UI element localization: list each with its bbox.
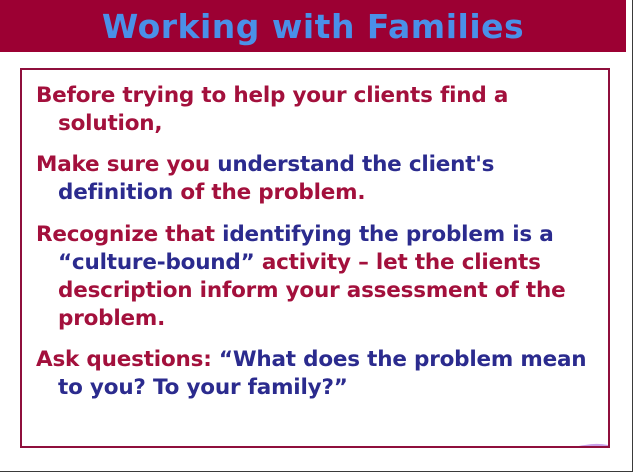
bullet-paragraph-para-2: Make sure you understand the client's de… [36, 151, 594, 207]
content-frame: Before trying to help your clients find … [20, 68, 610, 448]
bullet-paragraph-para-4: Ask questions: “What does the problem me… [36, 346, 594, 402]
text-segment-red: Ask questions: [36, 347, 219, 372]
bullet-paragraph-para-3: Recognize that identifying the problem i… [36, 221, 594, 334]
text-segment-red: Make sure you [36, 152, 217, 177]
title-banner: Working with Families [0, 0, 626, 52]
bullet-paragraph-para-1: Before trying to help your clients find … [36, 82, 594, 138]
text-segment-red: of the problem. [180, 180, 365, 205]
page-title: Working with Families [102, 10, 524, 43]
text-segment-red: Before trying to help your clients find … [36, 83, 508, 136]
text-segment-red: Recognize that [36, 222, 222, 247]
slide: Working with Families Before trying to h… [0, 0, 633, 472]
family-dinner-table-clipart [557, 442, 610, 448]
